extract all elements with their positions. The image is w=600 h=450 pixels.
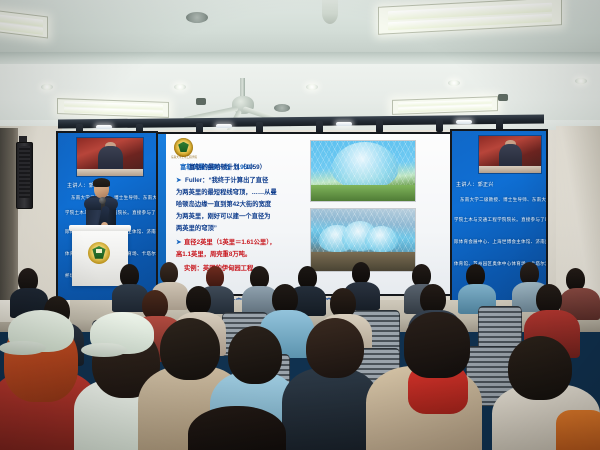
- audience-head: [228, 326, 282, 384]
- slide-highlight-text: 高1.1英里，周壳重8万吨。: [176, 251, 251, 259]
- audience-head: [404, 312, 470, 378]
- slide-bullet-text: 哈顿岛边缘一直到第42大街的宽度: [176, 201, 271, 209]
- eden-project-interior-photo: [310, 140, 416, 202]
- track-light-head: [376, 120, 383, 133]
- right-bio-line: 学院土木与交通工程学院院长。直接参与了哈尔滨国: [454, 217, 546, 223]
- security-camera-icon: [498, 94, 508, 101]
- track-light-head: [316, 121, 323, 134]
- downlight: [448, 80, 460, 86]
- speaker-portrait-photo: [478, 135, 542, 174]
- slide-bullet-text: 为两英里，刚好可以建一个直径为: [176, 213, 270, 221]
- track-light-head: [496, 118, 503, 131]
- audience-head: [306, 318, 364, 378]
- slide-bullet-text: 两英里的穹顶”: [176, 225, 217, 233]
- track-light-lamp: [216, 124, 232, 128]
- seat-back: [478, 306, 522, 348]
- smoke-detector-icon: [322, 0, 338, 24]
- track-light-lamp: [96, 125, 112, 129]
- university-logo-caption: 东南大学土木工程学院: [168, 156, 200, 160]
- microphone-head-icon: [99, 197, 106, 204]
- audience-torso: [556, 410, 600, 450]
- security-camera-icon: [196, 98, 206, 105]
- audience-head: [186, 286, 211, 315]
- track-light-lamp: [336, 122, 352, 126]
- baseball-cap: [90, 312, 154, 354]
- baseball-cap: [8, 310, 74, 352]
- lecture-hall-photo: 主讲人：郭正兴 东南大学二级教授、博士生导师、东南大学成 学院土木与交通工程学院…: [0, 0, 600, 450]
- right-bio-line: 东南大学二级教授、博士生导师、东南大学成: [460, 197, 546, 203]
- downlight: [41, 84, 53, 90]
- speaker-portrait-photo: [76, 137, 144, 177]
- slide-highlight-text: 直径2英里（1英里＝1.61公里），: [184, 239, 276, 247]
- university-logo-icon: [174, 138, 193, 157]
- audience-head: [160, 262, 178, 284]
- audience-head: [206, 266, 224, 288]
- right-speaker-label: 主讲人：郭正兴: [456, 181, 494, 188]
- lectern-top: [69, 225, 131, 231]
- track-light-head: [436, 119, 443, 132]
- right-bio-line: 际体育会展中心、上海世博会主体馆、济南奥体中: [454, 239, 546, 245]
- air-vent-icon: [274, 104, 290, 112]
- air-vent-icon: [186, 12, 208, 23]
- slide-bullet: ➤: [176, 177, 181, 185]
- downlight: [174, 84, 186, 90]
- audience-head: [352, 262, 370, 284]
- university-shield-emblem: [88, 242, 110, 264]
- slide-bullet: ➤: [176, 239, 181, 247]
- audience-head: [508, 336, 572, 400]
- downlight: [575, 78, 587, 84]
- audience-head: [160, 318, 220, 380]
- slide-bullet-text: 为两英里的最短程线穹顶，……从曼: [176, 189, 277, 197]
- track-light-lamp: [456, 120, 472, 124]
- wall-loudspeaker: [16, 142, 33, 209]
- downlight: [306, 84, 318, 90]
- slide-bullet-text: Fuller：“我终于计算出了直径: [185, 177, 268, 185]
- presenter-hair: [93, 178, 110, 187]
- audience-seating: [0, 262, 600, 450]
- slide-bullet-text: 富勒的曼哈顿计划（1959）: [189, 164, 266, 172]
